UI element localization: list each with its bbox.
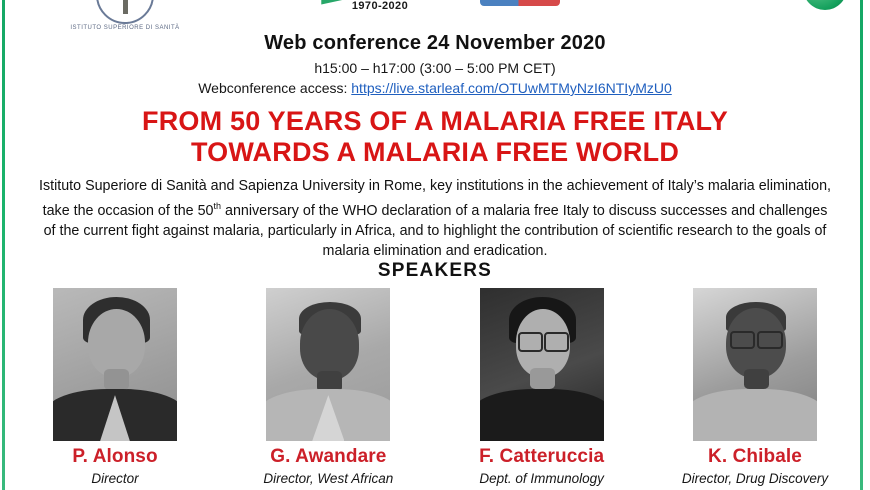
speaker-role: Director, West African: [229, 471, 427, 487]
speaker-name: G. Awandare: [229, 446, 427, 468]
portrait-p-alonso: [53, 288, 177, 441]
speaker-role: Dept. of Immunology: [443, 471, 641, 487]
speaker-card: F. Catteruccia Dept. of Immunology: [443, 288, 641, 487]
speaker-card: G. Awandare Director, West African: [229, 288, 427, 487]
speaker-name: P. Alonso: [16, 446, 214, 468]
speaker-role: Director, Drug Discovery: [656, 471, 854, 487]
portrait-g-awandare: [266, 288, 390, 441]
page-title: FROM 50 YEARS OF A MALARIA FREE ITALY TO…: [0, 106, 870, 168]
conference-date-line: Web conference 24 November 2020: [0, 32, 870, 55]
speaker-card: P. Alonso Director: [16, 288, 214, 487]
webconference-access-label: Webconference access:: [198, 80, 347, 96]
partner-logo: [455, 0, 585, 6]
logo-band: ISTITUTO SUPERIORE DI SANITÀ 1970-2020 S…: [0, 0, 870, 24]
speakers-heading: SPEAKERS: [0, 260, 870, 282]
page-title-line-1: FROM 50 YEARS OF A MALARIA FREE ITALY: [0, 106, 870, 137]
speaker-name: F. Catteruccia: [443, 446, 641, 468]
speaker-name: K. Chibale: [656, 446, 854, 468]
conference-flyer: ISTITUTO SUPERIORE DI SANITÀ 1970-2020 S…: [0, 0, 870, 490]
portrait-f-catteruccia: [480, 288, 604, 441]
webconference-access-line: Webconference access: https://live.starl…: [0, 80, 870, 96]
portrait-k-chibale: [693, 288, 817, 441]
speakers-row: P. Alonso Director G. Awandare Director,…: [16, 288, 854, 487]
conference-time-line: h15:00 – h17:00 (3:00 – 5:00 PM CET): [0, 60, 870, 76]
globe-icon: [803, 0, 847, 10]
50th-anniversary-logo: 1970-2020: [300, 0, 460, 12]
abstract-paragraph: Istituto Superiore di Sanità and Sapienz…: [36, 176, 834, 261]
istituto-superiore-di-sanita-logo: ISTITUTO SUPERIORE DI SANITÀ: [70, 0, 180, 31]
speaker-role: Director: [16, 471, 214, 487]
partner-emblem-icon: [480, 0, 560, 6]
iss-emblem-icon: [96, 0, 154, 24]
iss-logo-caption: ISTITUTO SUPERIORE DI SANITÀ: [70, 25, 180, 31]
speaker-card: K. Chibale Director, Drug Discovery: [656, 288, 854, 487]
globe-logo: [790, 0, 860, 10]
webconference-access-link[interactable]: https://live.starleaf.com/OTUwMTMyNzI6NT…: [351, 80, 672, 96]
page-title-line-2: TOWARDS A MALARIA FREE WORLD: [0, 137, 870, 168]
abstract-ordinal-suffix: th: [214, 201, 222, 211]
